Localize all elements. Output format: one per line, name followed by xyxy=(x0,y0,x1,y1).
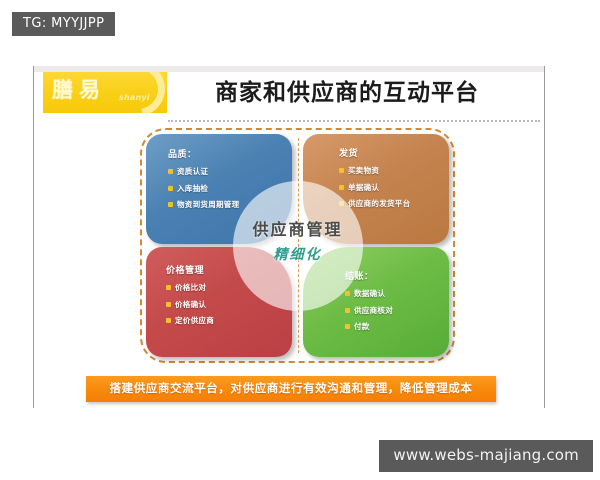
page-title: 商家和供应商的互动平台 xyxy=(182,76,512,110)
quadrant-shipping-title: 发货 xyxy=(339,150,358,159)
center-divider-line xyxy=(298,138,299,353)
slide-header: 膳易 shanyi 商家和供应商的互动平台 xyxy=(34,72,544,115)
quadrant-diagram: 品质： 资质认证 入库抽检 物资到货周期管理 发货 买卖物资 单据确认 供应商的… xyxy=(140,128,455,363)
list-item: 供应商的发货平台 xyxy=(339,200,410,208)
summary-banner-text: 搭建供应商交流平台，对供应商进行有效沟通和管理，降低管理成本 xyxy=(110,383,473,395)
site-watermark: www.webs-majiang.com xyxy=(379,440,593,472)
list-item: 付款 xyxy=(345,323,393,331)
list-item: 单据确认 xyxy=(339,184,410,192)
quadrant-pricing-list: 价格比对 价格确认 定价供应商 xyxy=(166,284,214,334)
quadrant-settlement[interactable]: 结账： 数据确认 供应商核对 付款 xyxy=(303,247,449,357)
brand-logo-cn: 膳易 xyxy=(52,80,106,101)
list-item: 供应商核对 xyxy=(345,307,393,315)
brand-logo: 膳易 shanyi xyxy=(43,72,167,113)
quadrant-quality[interactable]: 品质： 资质认证 入库抽检 物资到货周期管理 xyxy=(146,134,292,244)
list-item: 物资到货周期管理 xyxy=(168,201,239,209)
list-item: 买卖物资 xyxy=(339,167,410,175)
quadrant-settlement-list: 数据确认 供应商核对 付款 xyxy=(345,290,393,340)
list-item: 资质认证 xyxy=(168,168,239,176)
list-item: 入库抽检 xyxy=(168,185,239,193)
title-divider xyxy=(168,120,540,122)
list-item: 数据确认 xyxy=(345,290,393,298)
quadrant-pricing-title: 价格管理 xyxy=(166,267,204,276)
quadrant-shipping[interactable]: 发货 买卖物资 单据确认 供应商的发货平台 xyxy=(303,134,449,244)
list-item: 价格比对 xyxy=(166,284,214,292)
summary-banner: 搭建供应商交流平台，对供应商进行有效沟通和管理，降低管理成本 xyxy=(86,376,496,402)
brand-logo-en: shanyi xyxy=(119,94,150,102)
quadrant-settlement-title: 结账： xyxy=(345,273,374,282)
list-item: 定价供应商 xyxy=(166,317,214,325)
quadrant-quality-title: 品质： xyxy=(168,151,197,160)
quadrant-quality-list: 资质认证 入库抽检 物资到货周期管理 xyxy=(168,168,239,218)
slide-frame: 膳易 shanyi 商家和供应商的互动平台 品质： 资质认证 入库抽检 物资到货… xyxy=(33,66,545,408)
tg-tag: TG: MYYJJPP xyxy=(12,12,115,36)
list-item: 价格确认 xyxy=(166,301,214,309)
quadrant-shipping-list: 买卖物资 单据确认 供应商的发货平台 xyxy=(339,167,410,217)
quadrant-pricing[interactable]: 价格管理 价格比对 价格确认 定价供应商 xyxy=(146,247,292,357)
